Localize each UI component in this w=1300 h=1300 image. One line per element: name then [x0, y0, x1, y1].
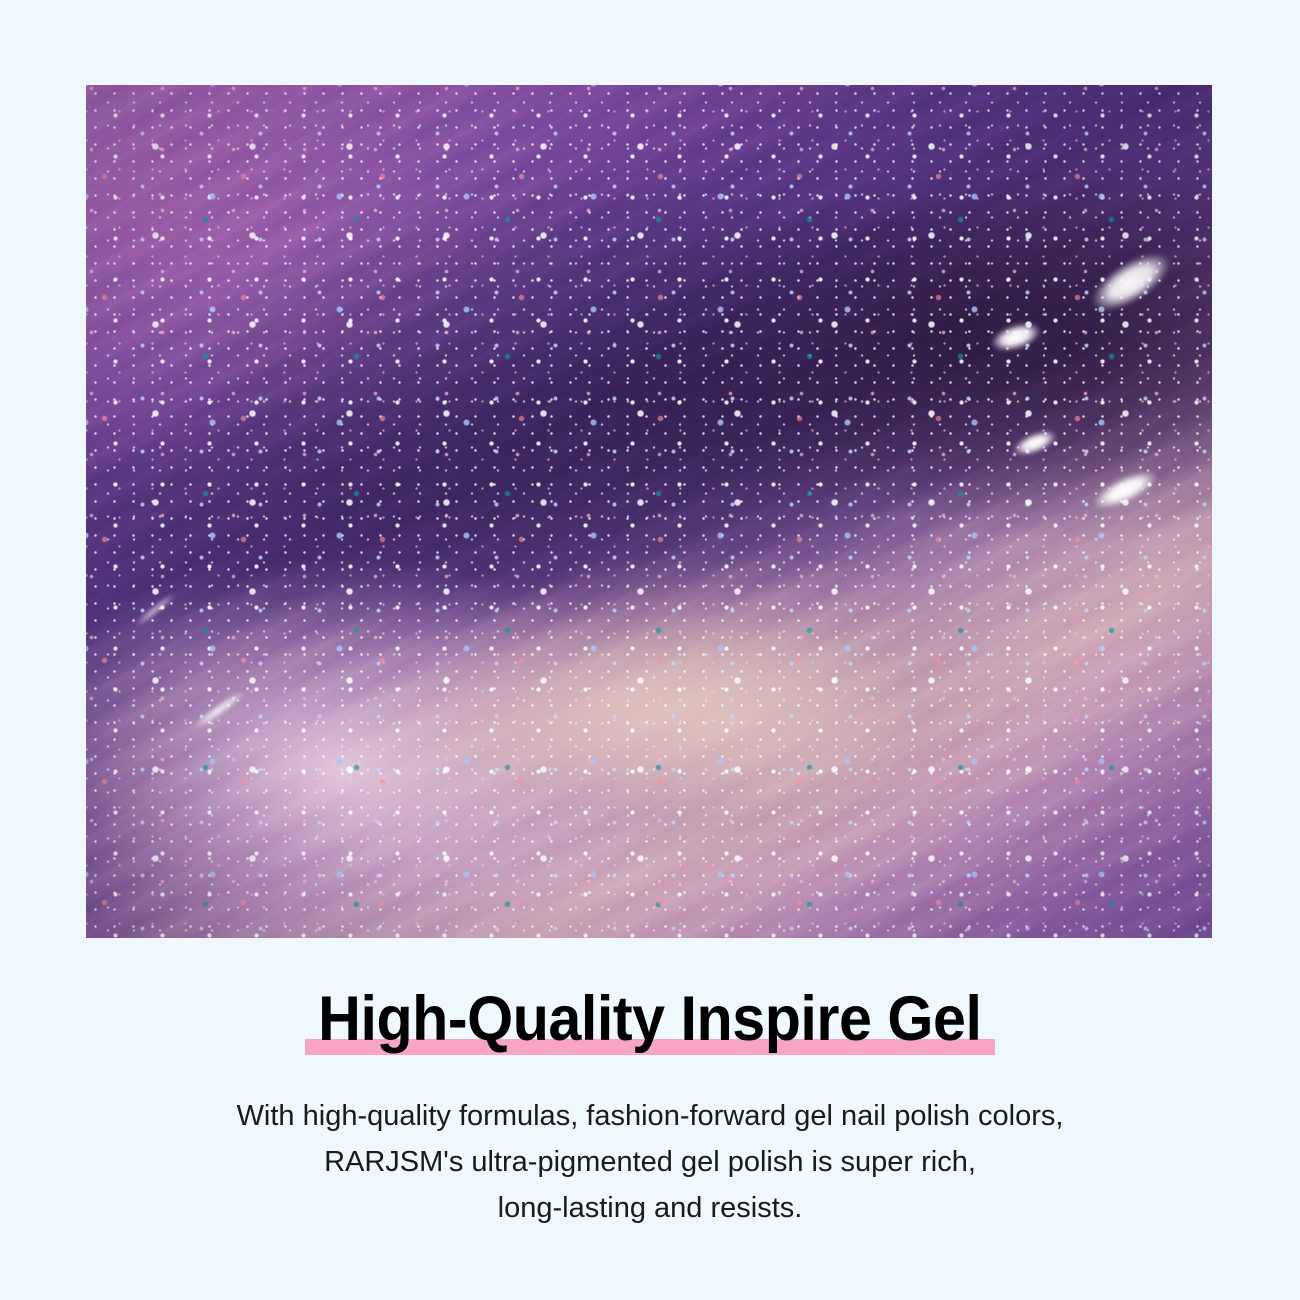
description-line-3: long-lasting and resists. — [0, 1185, 1300, 1231]
description-text: With high-quality formulas, fashion-forw… — [0, 1093, 1300, 1231]
headline-text: High-Quality Inspire Gel — [318, 984, 981, 1054]
description-line-2: RARJSM's ultra-pigmented gel polish is s… — [0, 1139, 1300, 1185]
headline-container: High-Quality Inspire Gel — [0, 988, 1300, 1061]
page-title: High-Quality Inspire Gel — [305, 988, 995, 1061]
product-banner: High-Quality Inspire Gel With high-quali… — [0, 0, 1300, 1300]
product-photo — [86, 85, 1212, 938]
description-line-1: With high-quality formulas, fashion-forw… — [0, 1093, 1300, 1139]
photo-vignette — [86, 85, 1212, 938]
